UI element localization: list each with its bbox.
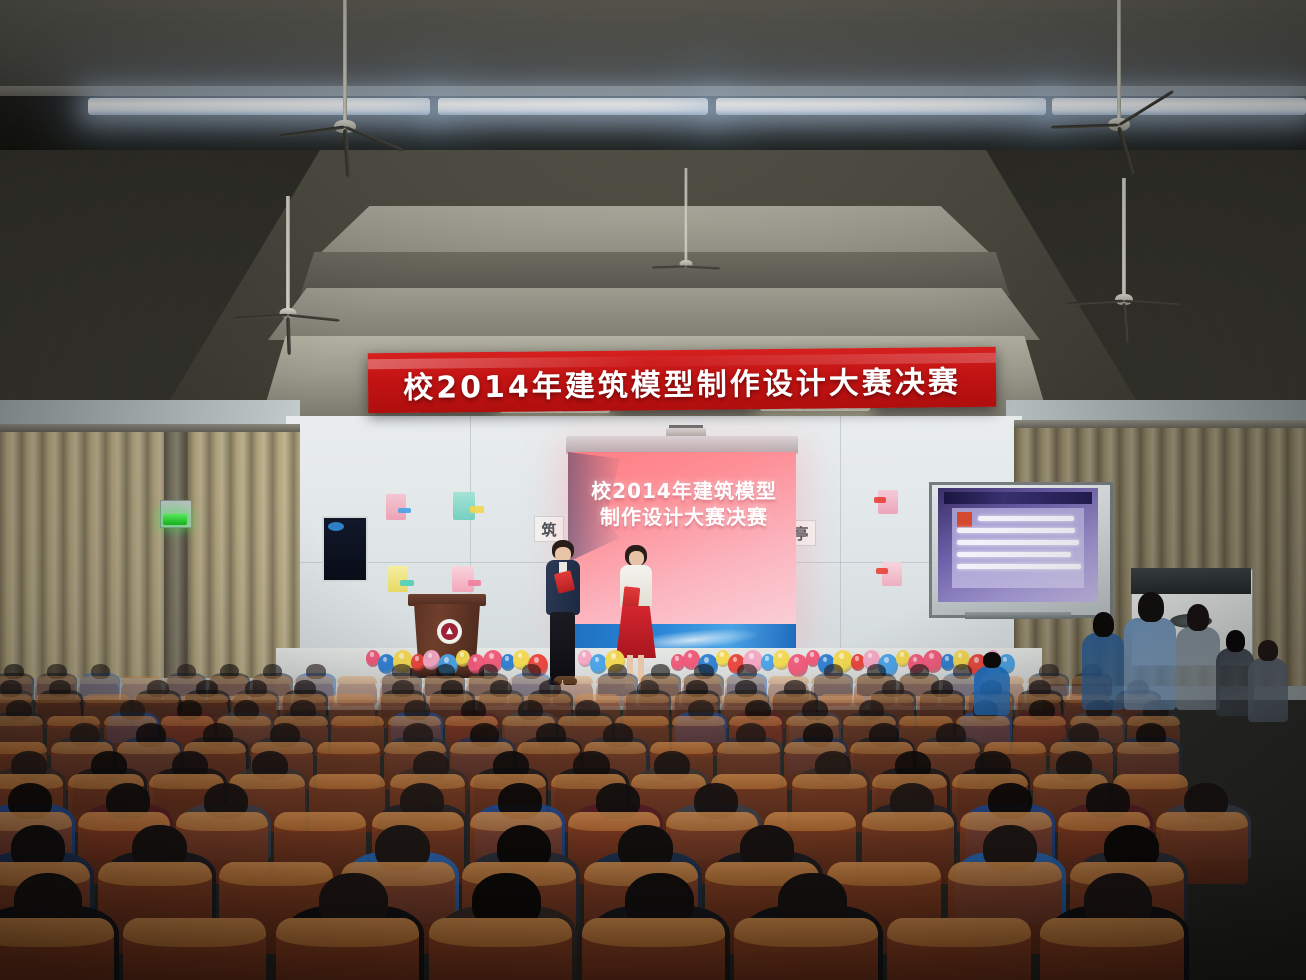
exit-sign	[163, 514, 187, 525]
tv-slide-text-line	[957, 540, 1079, 545]
seat-headrest	[329, 694, 375, 703]
fan-blade	[234, 314, 288, 321]
seat-headrest	[596, 676, 636, 684]
wall-decoration-tab	[876, 568, 888, 574]
curtain-left-a	[0, 432, 166, 678]
auditorium-seat	[429, 918, 573, 980]
seat-headrest	[0, 918, 114, 947]
standing-audience-head	[1187, 604, 1209, 631]
wall-decoration-tab	[468, 580, 481, 586]
standing-audience-head	[1226, 630, 1245, 652]
seat-headrest	[1040, 918, 1184, 947]
tv-slide-text-line	[978, 516, 1074, 521]
fan-blade	[288, 314, 340, 322]
screen-title-line2: 制作设计大赛决赛	[574, 504, 794, 530]
auditorium-photo: 筑 亭 校2014年建筑模型 制作设计大赛决赛 校2014年建筑模型制作设计大赛…	[0, 0, 1306, 980]
seat-headrest	[337, 676, 377, 684]
seat-headrest	[78, 676, 118, 684]
auditorium-seat	[0, 918, 114, 980]
standing-audience-head	[1093, 612, 1114, 637]
school-emblem-glyph: ▲	[446, 627, 453, 636]
fan-blade	[344, 126, 403, 152]
seat-headrest	[161, 716, 214, 726]
seat-headrest	[862, 812, 954, 831]
seat-headrest	[117, 742, 180, 754]
host-face	[629, 551, 644, 566]
ceiling-fan	[1056, 0, 1182, 152]
seat-headrest	[331, 716, 384, 726]
fan-blade	[652, 265, 686, 269]
seat-headrest	[317, 742, 380, 754]
fan-blade	[1066, 300, 1124, 306]
standing-audience-head	[1258, 640, 1278, 661]
wall-decoration	[882, 562, 902, 586]
fan-blade	[1124, 300, 1180, 307]
fan-rod	[1117, 0, 1121, 122]
standing-audience-member	[1248, 658, 1288, 722]
tv-slide-text-line	[957, 528, 1075, 533]
seat-headrest	[734, 918, 878, 947]
proscenium-step-mid	[268, 288, 1040, 340]
wall-character-sign-left: 筑	[534, 516, 564, 542]
ceiling-fan	[285, 0, 405, 150]
seat-headrest	[956, 716, 1009, 726]
seat-headrest	[476, 694, 522, 703]
ceiling-light-strip	[438, 98, 708, 115]
host-trousers	[550, 612, 575, 680]
tv-slide-text-line	[957, 552, 1071, 557]
seat-headrest	[429, 918, 573, 947]
seat-headrest	[219, 862, 333, 886]
wall-decoration-tab	[398, 508, 411, 513]
standing-audience-head	[983, 652, 1001, 668]
seat-headrest	[631, 774, 706, 789]
seat-headrest	[811, 676, 851, 684]
auditorium-seat	[887, 918, 1031, 980]
seat-headrest	[309, 774, 384, 789]
curtain-left-b	[188, 432, 300, 678]
fan-rod	[685, 168, 688, 264]
seat-headrest	[582, 918, 726, 947]
school-emblem: ▲	[437, 619, 462, 644]
ceiling-light-strip	[716, 98, 1046, 115]
standing-audience-member	[974, 666, 1010, 716]
air-conditioner-vent-panel	[1131, 568, 1251, 594]
seat-headrest	[276, 918, 420, 947]
auditorium-seat	[582, 918, 726, 980]
auditorium-seat	[276, 918, 420, 980]
screen-title-line1: 校2014年建筑模型	[574, 478, 794, 504]
seat-headrest	[274, 812, 366, 831]
tv-slide-logo-icon	[957, 512, 972, 527]
balloon	[788, 654, 808, 677]
seat-headrest	[176, 812, 268, 831]
standing-audience-member	[1176, 627, 1220, 710]
seat-headrest	[1156, 812, 1248, 831]
projection-screen-text: 校2014年建筑模型 制作设计大赛决赛	[574, 478, 794, 530]
fan-rod	[1122, 178, 1126, 298]
seat-headrest	[558, 716, 611, 726]
tv-slide-header-bar	[944, 492, 1092, 504]
event-banner-text: 校2014年建筑模型制作设计大赛决赛	[368, 357, 996, 408]
tv-slide-text-line	[957, 564, 1081, 569]
fan-rod	[343, 0, 347, 124]
fan-blade	[686, 265, 720, 269]
seat-headrest	[517, 742, 580, 754]
seat-headrest	[948, 862, 1062, 886]
auditorium-seat	[1040, 918, 1184, 980]
seat-headrest	[1117, 742, 1180, 754]
wall-decoration-tab	[470, 506, 484, 513]
auditorium-seat	[734, 918, 878, 980]
seat-headrest	[623, 694, 669, 703]
seat-headrest	[792, 774, 867, 789]
fan-blade	[1118, 90, 1174, 126]
wall-decoration	[452, 566, 474, 592]
seat-headrest	[666, 812, 758, 831]
seat-headrest	[917, 694, 963, 703]
ceiling-fan	[1072, 178, 1176, 324]
wall-decoration-tab	[400, 580, 414, 586]
fan-blade	[279, 125, 345, 137]
fan-blade	[286, 317, 291, 355]
ceiling-fan	[655, 168, 717, 274]
seat-headrest	[98, 862, 212, 886]
seat-headrest	[35, 694, 81, 703]
wall-decoration	[388, 566, 408, 592]
display-panel-logo-icon	[328, 522, 344, 531]
standing-audience-member	[1124, 618, 1176, 711]
seat-headrest	[1013, 716, 1066, 726]
seat-headrest	[827, 862, 941, 886]
seat-headrest	[672, 716, 725, 726]
seat-headrest	[1113, 774, 1188, 789]
seat-headrest	[819, 694, 865, 703]
wall-decoration	[386, 494, 406, 520]
seat-headrest	[123, 918, 267, 947]
wall-decoration-tab	[874, 497, 886, 503]
wall-seam	[840, 416, 841, 672]
seat-headrest	[917, 742, 980, 754]
seat-headrest	[0, 716, 43, 726]
standing-audience-member	[1082, 633, 1124, 710]
seat-headrest	[887, 918, 1031, 947]
standing-audience-head	[1138, 592, 1164, 622]
seat-headrest	[717, 742, 780, 754]
host-skirt	[616, 606, 656, 658]
school-emblem-inner: ▲	[441, 623, 458, 640]
tv-monitor-stand	[965, 612, 1071, 619]
fan-rod	[286, 196, 290, 312]
ceiling-fan	[240, 196, 336, 336]
auditorium-seat	[123, 918, 267, 980]
event-banner: 校2014年建筑模型制作设计大赛决赛	[368, 347, 997, 414]
